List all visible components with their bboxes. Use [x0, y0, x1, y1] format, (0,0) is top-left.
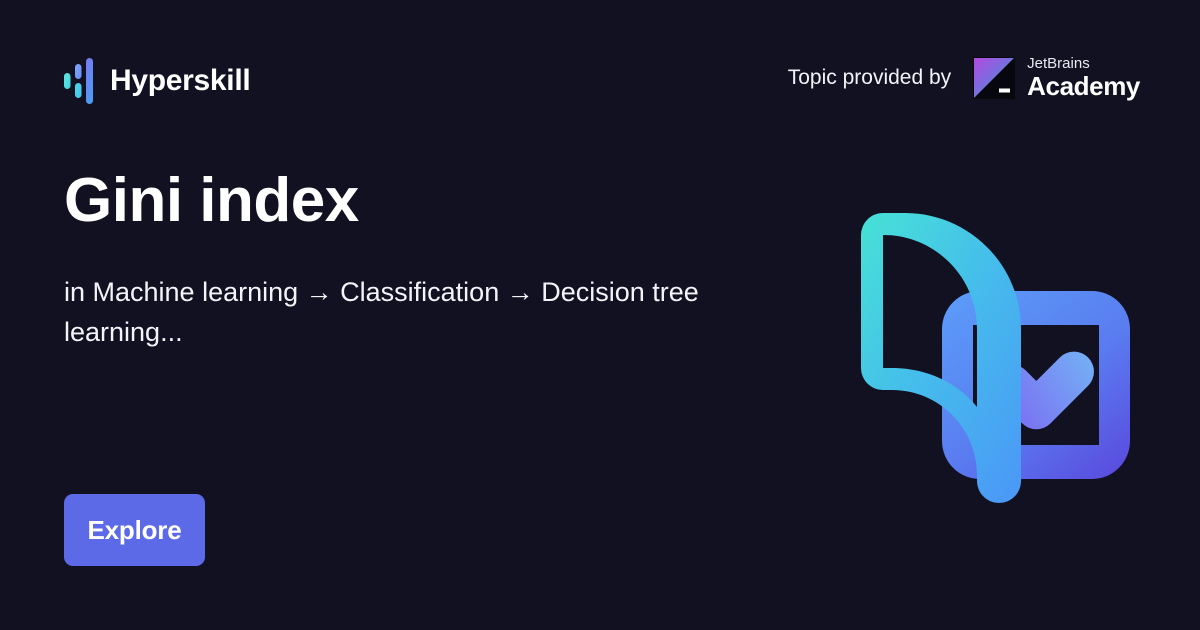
open-book-page [861, 213, 1021, 503]
jetbrains-wordmark-top: JetBrains [1027, 56, 1140, 71]
header: Hyperskill Topic provided by [0, 0, 1200, 160]
topic-provided-by-label: Topic provided by [788, 67, 951, 88]
jetbrains-wordmark-bottom: Academy [1027, 73, 1140, 99]
hyperskill-brand[interactable]: Hyperskill [64, 58, 250, 104]
hyperskill-topic-card: Hyperskill Topic provided by [0, 0, 1200, 630]
hyperskill-brand-name: Hyperskill [110, 66, 250, 96]
topic-provider: Topic provided by [788, 56, 1140, 99]
jetbrains-academy-logo[interactable]: JetBrains Academy [973, 56, 1140, 99]
breadcrumb: in Machine learning → Classification → D… [64, 273, 764, 353]
topic-content: Gini index in Machine learning → Classif… [64, 168, 804, 353]
jetbrains-academy-wordmark: JetBrains Academy [1027, 56, 1140, 99]
jetbrains-square-icon [973, 57, 1015, 99]
page-title: Gini index [64, 168, 804, 235]
explore-button[interactable]: Explore [64, 494, 205, 566]
hyperskill-bars-icon [64, 58, 94, 104]
open-book-with-checked-page-illustration [845, 205, 1135, 525]
